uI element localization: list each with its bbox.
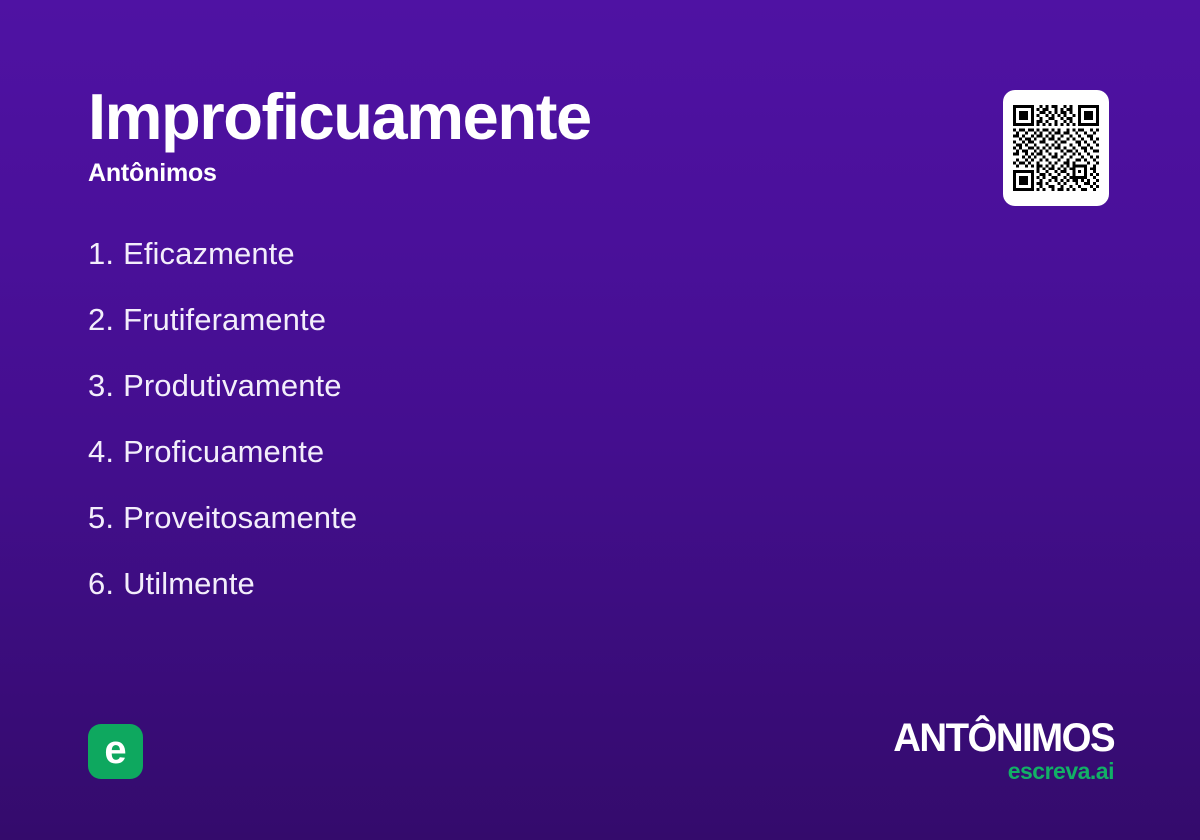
list-item: 2. Frutiferamente [88,304,357,370]
list-item-index: 2. [88,304,114,335]
escreva-logo-letter: e [104,730,126,770]
list-item-word: Eficazmente [123,238,295,269]
page-subtitle: Antônimos [88,161,1040,186]
list-item-word: Produtivamente [123,370,342,401]
list-item-index: 6. [88,568,114,599]
list-item-index: 4. [88,436,114,467]
antonyms-card: Improficuamente Antônimos [0,0,1200,840]
antonyms-list: 1. Eficazmente 2. Frutiferamente 3. Prod… [88,238,357,634]
list-item: 3. Produtivamente [88,370,357,436]
list-item: 6. Utilmente [88,568,357,634]
qr-code[interactable] [1003,90,1109,206]
list-item-word: Utilmente [123,568,255,599]
brand-name: ANTÔNIMOS [893,718,1114,758]
list-item-word: Frutiferamente [123,304,326,335]
escreva-logo-badge[interactable]: e [88,724,143,779]
list-item-index: 5. [88,502,114,533]
qr-code-icon [1013,99,1099,197]
brand-lockup: ANTÔNIMOS escreva.ai [884,718,1114,783]
list-item: 1. Eficazmente [88,238,357,304]
list-item-index: 3. [88,370,114,401]
list-item: 5. Proveitosamente [88,502,357,568]
page-title: Improficuamente [88,84,1040,149]
brand-domain: escreva.ai [884,760,1114,783]
list-item-word: Proficuamente [123,436,324,467]
list-item: 4. Proficuamente [88,436,357,502]
list-item-index: 1. [88,238,114,269]
header: Improficuamente Antônimos [88,84,1040,186]
list-item-word: Proveitosamente [123,502,357,533]
